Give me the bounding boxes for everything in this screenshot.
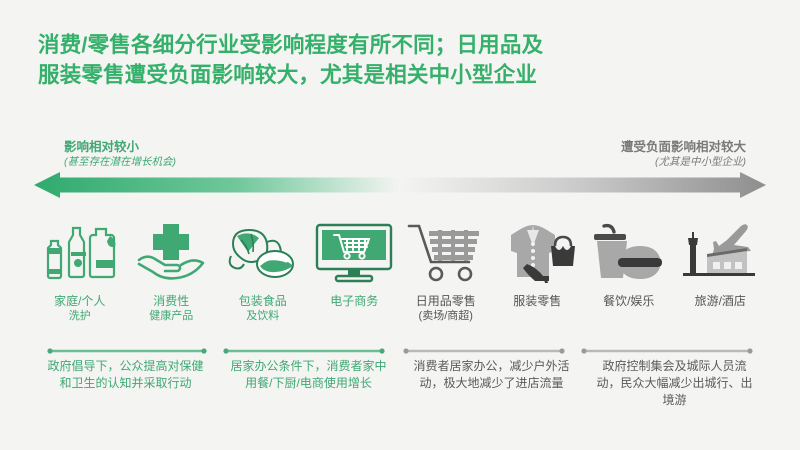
spectrum-right-label: 遭受负面影响相对较大 (尤其是中小型企业) — [621, 140, 746, 169]
title-line-1: 消费/零售各细分行业受影响程度有所不同；日用品及 — [38, 30, 766, 60]
category-column-household-personal-care: 家庭/个人 洗护 — [34, 212, 126, 344]
category-label: 旅游/酒店 — [695, 294, 746, 309]
category-column-dining-entertainment: 餐饮/娱乐 — [583, 212, 675, 344]
category-column-travel-hotel: 旅游/酒店 — [675, 212, 767, 344]
category-label: 日用品零售 — [416, 294, 476, 309]
arrow-right-head — [400, 172, 766, 198]
category-label: 服装零售 — [513, 294, 561, 309]
apparel-icon — [497, 212, 577, 294]
slide-root: 消费/零售各细分行业受影响程度有所不同；日用品及 服装零售遭受负面影响较大，尤其… — [0, 0, 800, 450]
category-column-consumer-health: 消费性 健康产品 — [126, 212, 218, 344]
monitor-shopping-cart-icon — [314, 212, 394, 294]
spectrum-left-sub: (甚至存在潜在增长机会) — [64, 155, 176, 169]
description-block-1: 政府倡导下，公众提高对保健和卫生的认知并采取行动 — [34, 358, 217, 409]
category-label: 包装食品 — [239, 294, 287, 309]
category-sublabel: 及饮料 — [246, 309, 279, 323]
bottles-icon — [41, 212, 119, 294]
airport-plane-icon — [679, 212, 761, 294]
category-column-ecommerce: 电子商务 — [309, 212, 401, 344]
impact-spectrum-arrow — [34, 172, 766, 198]
hand-medical-cross-icon — [135, 212, 207, 294]
croissant-bowl-icon — [225, 212, 301, 294]
burger-drink-icon — [590, 212, 668, 294]
spectrum-left-heading: 影响相对较小 — [64, 140, 176, 155]
spectrum-left-label: 影响相对较小 (甚至存在潜在增长机会) — [64, 140, 176, 169]
category-sublabel: 健康产品 — [149, 309, 193, 323]
spectrum-right-heading: 遭受负面影响相对较大 — [621, 140, 746, 155]
category-label: 餐饮/娱乐 — [603, 294, 654, 309]
arrow-left-head — [34, 172, 400, 198]
category-label: 电子商务 — [330, 294, 378, 309]
category-column-daily-goods-retail: 日用品零售 (卖场/商超) — [400, 212, 492, 344]
category-column-packaged-food: 包装食品 及饮料 — [217, 212, 309, 344]
category-label: 家庭/个人 — [54, 294, 105, 309]
description-block-3: 消费者居家办公，减少户外活动，极大地减少了进店流量 — [400, 358, 583, 409]
title-line-2: 服装零售遭受负面影响较大，尤其是相关中小型企业 — [38, 60, 766, 90]
description-block-2: 居家办公条件下，消费者家中用餐/下厨/电商使用增长 — [217, 358, 400, 409]
category-column-apparel-retail: 服装零售 — [492, 212, 584, 344]
group-connector-lines — [34, 347, 766, 355]
category-sublabel: 洗护 — [69, 309, 91, 323]
category-sublabel: (卖场/商超) — [419, 309, 473, 323]
shopping-cart-icon — [407, 212, 485, 294]
description-blocks: 政府倡导下，公众提高对保健和卫生的认知并采取行动 居家办公条件下，消费者家中用餐… — [34, 358, 766, 409]
spectrum-right-sub: (尤其是中小型企业) — [621, 155, 746, 169]
description-block-4: 政府控制集会及城际人员流动，民众大幅减少出城行、出境游 — [583, 358, 766, 409]
page-title: 消费/零售各细分行业受影响程度有所不同；日用品及 服装零售遭受负面影响较大，尤其… — [38, 30, 766, 90]
category-columns: 家庭/个人 洗护 消费性 健康产品 — [34, 212, 766, 344]
category-label: 消费性 — [153, 294, 189, 309]
